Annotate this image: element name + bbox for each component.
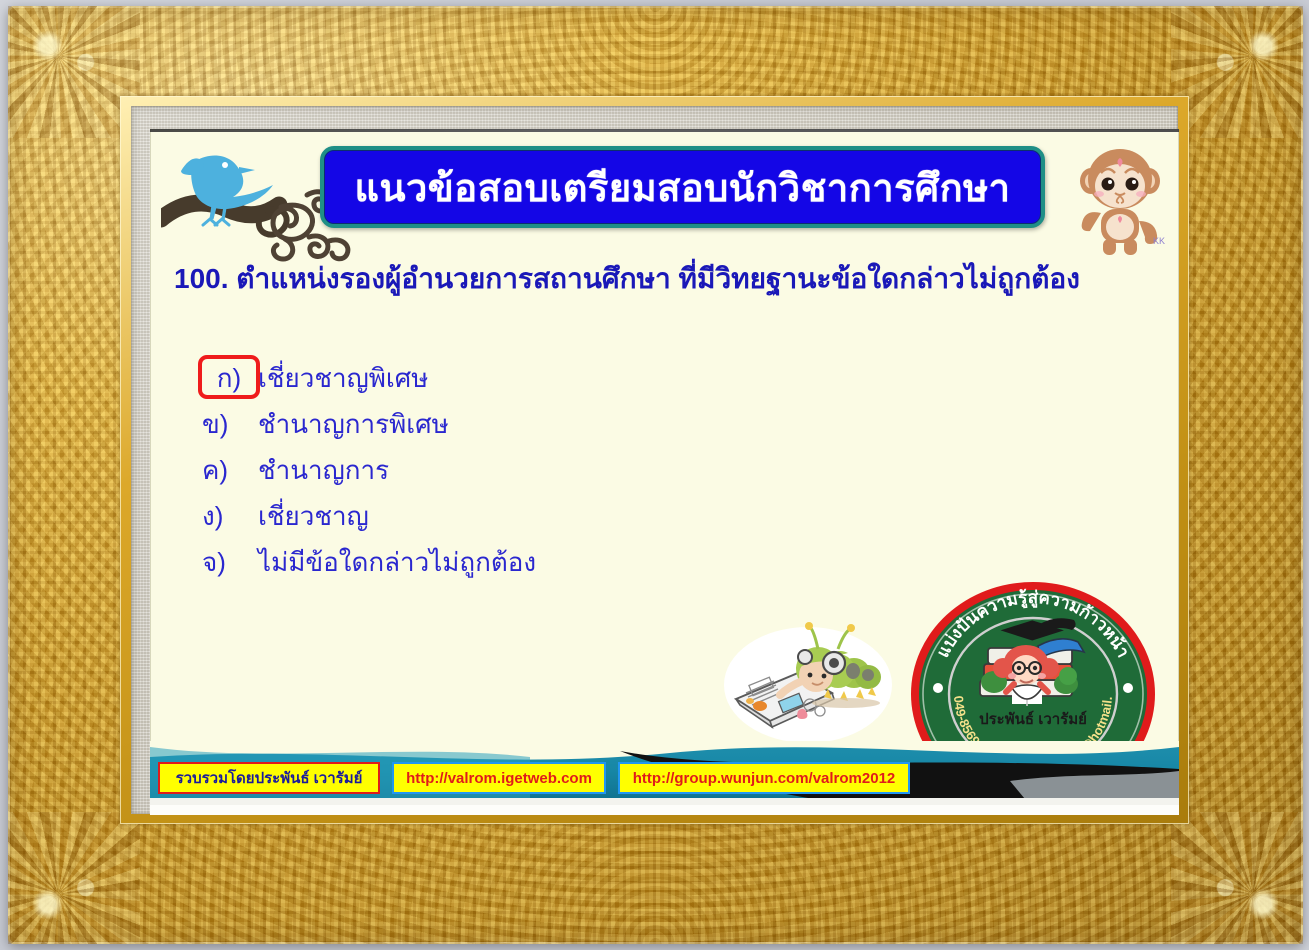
choice-label: เชี่ยวชาญ: [256, 493, 369, 539]
slide-bottom-white-gap: [150, 805, 1179, 815]
choice-key: ข): [202, 401, 256, 447]
choice-list: ก) เชี่ยวชาญพิเศษ ข) ชำนาญการพิเศษ ค) ชำ…: [202, 355, 1062, 585]
website-link-label-2: http://group.wunjun.com/valrom2012: [633, 770, 896, 787]
presentation-slide: แนวข้อสอบเตรียมสอบนักวิชาการศึกษา: [150, 129, 1179, 805]
seal-center-name: ประพันธ์ เวารัมย์: [979, 710, 1087, 728]
frame-corner-bottom-right-ornament: [1171, 812, 1303, 944]
choice-option-ngo[interactable]: ง) เชี่ยวชาญ: [202, 493, 1062, 539]
caterpillar-child-reading-book-icon: [722, 619, 894, 751]
choice-option-kho2[interactable]: ค) ชำนาญการ: [202, 447, 1062, 493]
frame-corner-top-right-ornament: [1171, 6, 1303, 138]
website-link-ribbon-1[interactable]: http://valrom.igetweb.com: [392, 762, 606, 794]
question-line-1: 100. ตำแหน่งรองผู้อำนวยการสถานศึกษา ที่ม…: [174, 263, 1080, 294]
footer-link-ribbons: รวบรวมโดยประพันธ์ เวารัมย์ http://valrom…: [158, 762, 910, 794]
question-text: 100. ตำแหน่งรองผู้อำนวยการสถานศึกษา ที่ม…: [174, 257, 1164, 301]
choice-label: ชำนาญการ: [256, 447, 389, 493]
website-link-ribbon-2[interactable]: http://group.wunjun.com/valrom2012: [618, 762, 910, 794]
slide-title-text: แนวข้อสอบเตรียมสอบนักวิชาการศึกษา: [355, 157, 1011, 218]
screenshot-canvas: แนวข้อสอบเตรียมสอบนักวิชาการศึกษา: [0, 0, 1309, 950]
credit-ribbon[interactable]: รวบรวมโดยประพันธ์ เวารัมย์: [158, 762, 380, 794]
slide-title-box: แนวข้อสอบเตรียมสอบนักวิชาการศึกษา: [320, 146, 1045, 228]
slide-top-accent-bar: [150, 129, 1179, 132]
choice-label: ไม่มีข้อใดกล่าวไม่ถูกต้อง: [256, 539, 536, 585]
frame-corner-bottom-left-ornament: [8, 812, 140, 944]
choice-key: ก): [202, 355, 256, 401]
svg-text:KK: KK: [1153, 236, 1165, 246]
monkey-mascot-icon: KK: [1065, 139, 1177, 257]
choice-key: จ): [202, 539, 256, 585]
choice-option-ka[interactable]: ก) เชี่ยวชาญพิเศษ: [202, 355, 1062, 401]
website-link-label-1: http://valrom.igetweb.com: [406, 770, 592, 787]
choice-label: ชำนาญการพิเศษ: [256, 401, 449, 447]
slide-bottom-white-strip: [150, 798, 1179, 805]
choice-key: ง): [202, 493, 256, 539]
choice-option-kho[interactable]: ข) ชำนาญการพิเศษ: [202, 401, 1062, 447]
choice-key: ค): [202, 447, 256, 493]
choice-label: เชี่ยวชาญพิเศษ: [256, 355, 428, 401]
credit-ribbon-label: รวบรวมโดยประพันธ์ เวารัมย์: [176, 766, 363, 790]
